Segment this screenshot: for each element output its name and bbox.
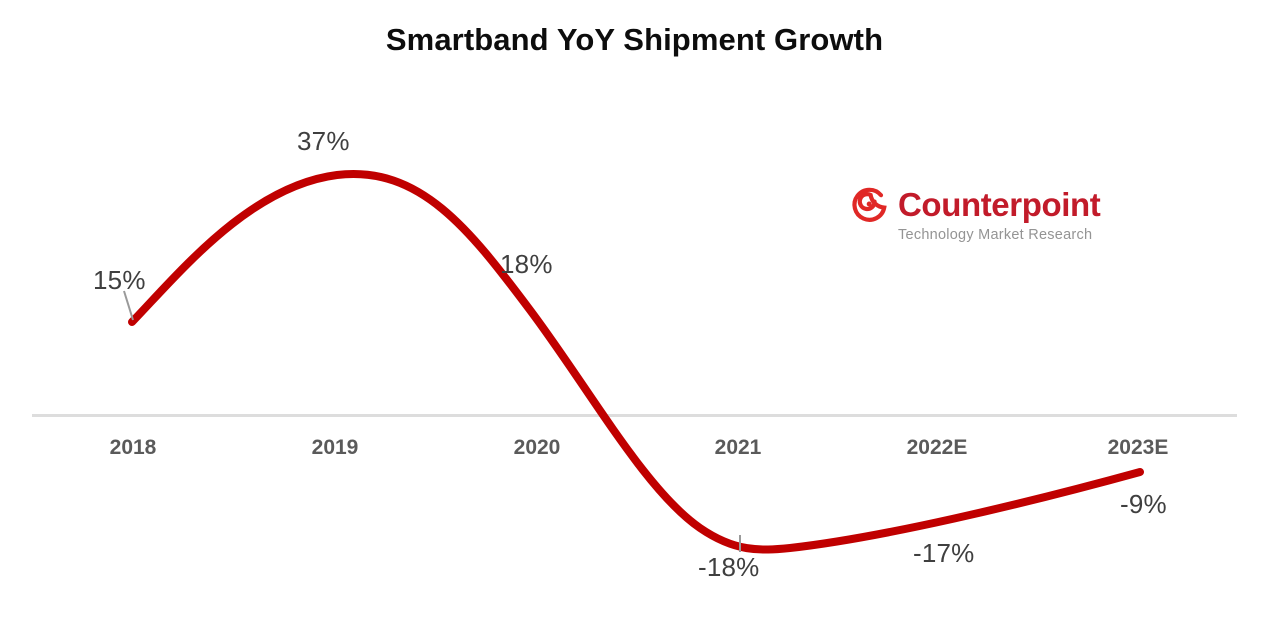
counterpoint-logo: Counterpoint Technology Market Research bbox=[850, 186, 1106, 242]
x-axis-tick-2022e: 2022E bbox=[907, 436, 968, 460]
x-axis-tick-2020: 2020 bbox=[514, 436, 561, 460]
data-label-2019: 37% bbox=[297, 126, 350, 157]
data-label-2022e: -17% bbox=[913, 538, 975, 569]
counterpoint-swirl-icon bbox=[850, 185, 890, 225]
logo-wordmark: Counterpoint bbox=[898, 188, 1100, 222]
x-axis-tick-2019: 2019 bbox=[312, 436, 359, 460]
logo-tagline: Technology Market Research bbox=[898, 227, 1106, 243]
data-label-2021: -18% bbox=[698, 552, 760, 583]
data-label-2018: 15% bbox=[93, 265, 146, 296]
x-axis-tick-2018: 2018 bbox=[110, 436, 157, 460]
chart-canvas: Smartband YoY Shipment Growth 2018 2019 … bbox=[0, 0, 1269, 643]
line-chart-plot bbox=[0, 0, 1269, 643]
data-label-2020: 18% bbox=[500, 249, 553, 280]
x-axis-tick-2021: 2021 bbox=[715, 436, 762, 460]
x-axis-tick-2023e: 2023E bbox=[1108, 436, 1169, 460]
data-label-2023e: -9% bbox=[1120, 489, 1167, 520]
